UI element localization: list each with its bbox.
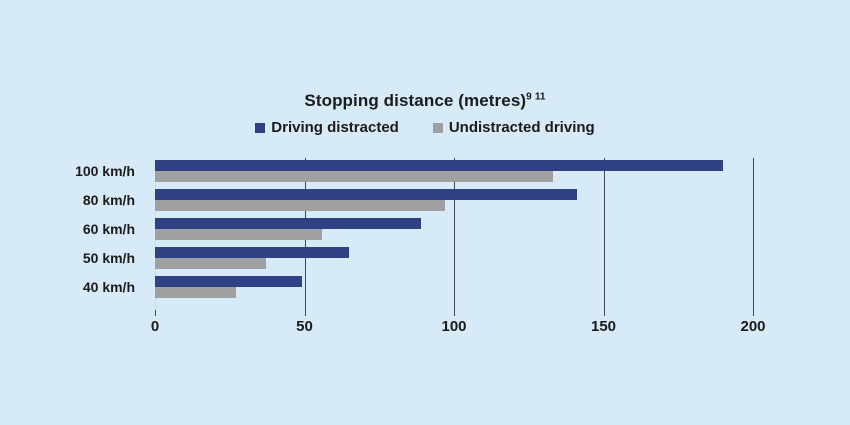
chart-legend: Driving distracted Undistracted driving — [0, 119, 850, 136]
bar[interactable] — [155, 218, 421, 229]
bar[interactable] — [155, 200, 445, 211]
bar-group — [155, 276, 753, 300]
x-tick-label-150: 150 — [591, 318, 616, 335]
bar[interactable] — [155, 276, 302, 287]
chart-title-text: Stopping distance (metres) — [304, 91, 526, 110]
bar[interactable] — [155, 258, 266, 269]
y-axis-label-60-km-h: 60 km/h — [0, 221, 135, 237]
y-axis-label-80-km-h: 80 km/h — [0, 192, 135, 208]
bar[interactable] — [155, 229, 322, 240]
x-tick-label-200: 200 — [740, 318, 765, 335]
x-tick-label-50: 50 — [296, 318, 313, 335]
x-tick-mark-0 — [155, 310, 156, 316]
bar-group — [155, 247, 753, 271]
bar-group — [155, 189, 753, 213]
bar-group — [155, 160, 753, 184]
y-axis-label-50-km-h: 50 km/h — [0, 250, 135, 266]
legend-label-undistracted: Undistracted driving — [449, 119, 595, 136]
chart-title-footnote-1: 9 — [526, 91, 532, 102]
bar-group — [155, 218, 753, 242]
bar[interactable] — [155, 189, 577, 200]
stopping-distance-chart: Stopping distance (metres)911 Driving di… — [0, 0, 850, 425]
chart-title-footnote-2: 11 — [535, 91, 546, 102]
x-tick-mark-150 — [604, 310, 605, 316]
bar[interactable] — [155, 160, 723, 171]
legend-item-driving-distracted[interactable]: Driving distracted — [255, 119, 399, 136]
x-tick-label-0: 0 — [151, 318, 159, 335]
bar-series-container — [155, 158, 753, 310]
x-tick-label-100: 100 — [441, 318, 466, 335]
bar[interactable] — [155, 247, 349, 258]
legend-label-distracted: Driving distracted — [271, 119, 399, 136]
plot-area — [155, 158, 753, 310]
legend-item-undistracted-driving[interactable]: Undistracted driving — [433, 119, 595, 136]
bar[interactable] — [155, 287, 236, 298]
y-axis-label-40-km-h: 40 km/h — [0, 279, 135, 295]
x-tick-mark-50 — [305, 310, 306, 316]
y-axis-labels: 100 km/h80 km/h60 km/h50 km/h40 km/h — [0, 158, 148, 310]
y-axis-label-100-km-h: 100 km/h — [0, 163, 135, 179]
chart-title: Stopping distance (metres)911 — [0, 91, 850, 111]
gridline-200 — [753, 158, 754, 310]
x-axis-ticks: 050100150200 — [155, 310, 753, 340]
x-tick-mark-200 — [753, 310, 754, 316]
legend-swatch-icon-distracted — [255, 123, 265, 133]
bar[interactable] — [155, 171, 553, 182]
legend-swatch-icon-undistracted — [433, 123, 443, 133]
x-tick-mark-100 — [454, 310, 455, 316]
